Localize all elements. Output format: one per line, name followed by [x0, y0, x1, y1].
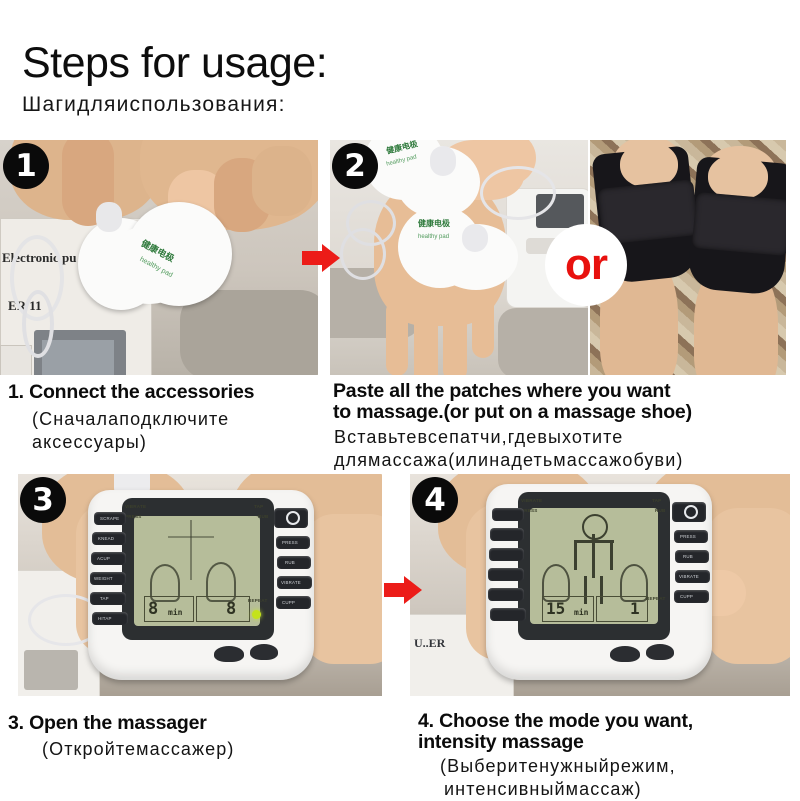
device-button-left-2-p4[interactable] [490, 528, 524, 541]
arrow-right-icon-2 [384, 576, 424, 604]
lcd-timer-value-4: 15 [546, 599, 565, 618]
massager-lcd-3: 8 min 8 [134, 516, 260, 626]
step-4-caption-en-line-2: intensity massage [418, 731, 584, 754]
page-subtitle-russian: Шагидляиспользования: [22, 92, 286, 118]
device-arrow-up-4[interactable] [646, 644, 674, 660]
device-arrow-down-3[interactable] [214, 646, 244, 662]
step-4-photo: U..ER 15 [410, 474, 790, 696]
photo-open-massager: 8 min 8 VIBRATE PRESS TAP RUB REPEAT SCR… [18, 474, 382, 696]
step-3-caption-en: 3. Open the massager [8, 712, 207, 735]
device-button-right-3-p4-label: RUB [683, 554, 693, 559]
lcd-label-repeat-3: REPEAT [248, 598, 268, 603]
step-3-caption-ru-line-1: (Откройтемассажер) [42, 738, 235, 761]
package-label-user: U..ER [414, 636, 445, 651]
lcd-label-tap-4: TAP [652, 498, 661, 503]
lcd-intensity-value-4: 1 [630, 599, 640, 618]
infographic-page: Steps for usage: Шагидляиспользования: E… [0, 0, 800, 800]
or-badge: or [545, 224, 627, 306]
step-1-caption-ru-line-1: (Сначалаподключите [32, 408, 229, 431]
device-button-left-1-p4[interactable] [492, 508, 524, 521]
step-4-caption-ru-line-1: (Выберитенужныйрежим, [440, 755, 676, 778]
power-led-3 [252, 610, 261, 619]
pad-english-text-3: healthy pad [418, 234, 449, 240]
step-badge-2: 2 [332, 143, 378, 189]
photo-choose-mode: U..ER 15 [410, 474, 790, 696]
lcd-timer-unit-3: min [168, 608, 182, 617]
device-button-left-3-p4[interactable] [489, 548, 524, 561]
device-button-right-5-label: CUPP [282, 600, 295, 605]
device-arrow-up-3[interactable] [250, 644, 278, 660]
device-button-right-4-label: VIBRATE [281, 580, 301, 585]
device-button-left-6-p4[interactable] [490, 608, 526, 621]
lcd-timer-unit-4: min [574, 608, 588, 617]
lcd-label-vibrate-3: VIBRATE [125, 504, 146, 509]
step-3-photo: 8 min 8 VIBRATE PRESS TAP RUB REPEAT SCR… [18, 474, 382, 696]
step-2-caption-en-line-2: to massage.(or put on a massage shoe) [333, 401, 692, 424]
step-1-caption-en: 1. Connect the accessories [8, 381, 254, 404]
step-2-caption-ru-line-2: длямассажа(илинадетьмассажобуви) [334, 449, 683, 472]
page-title: Steps for usage: [22, 38, 327, 88]
device-button-left-3-label: ACUP [97, 556, 110, 561]
lcd-label-rub-4: RUB [655, 508, 666, 513]
photo-connect-accessories: Electronic pu ER 11 健康电极 healthy pad [0, 140, 318, 375]
step-badge-4: 4 [412, 477, 458, 523]
lcd-timer-value-3: 8 [148, 599, 158, 619]
device-button-right-3-label: RUB [285, 560, 295, 565]
step-2-caption-en-line-1: Paste all the patches where you want [333, 380, 670, 403]
step-2-caption-ru-line-1: Вставьтевсепатчи,гдевыхотите [334, 426, 623, 449]
step-4-caption-ru-line-2: интенсивныймассаж) [444, 778, 642, 801]
lcd-label-rub-3: RUB [258, 514, 269, 519]
device-button-right-4-p4-label: VIBRATE [679, 574, 699, 579]
step-badge-3: 3 [20, 477, 66, 523]
lcd-intensity-value-3: 8 [226, 599, 236, 619]
massager-lcd-4: 15 min 1 [530, 508, 658, 624]
pad-chinese-text-3: 健康电极 [418, 218, 450, 229]
device-button-left-5-p4[interactable] [488, 588, 524, 601]
device-button-right-5-p4-label: CUPP [680, 594, 693, 599]
device-button-left-2-label: KNEAD [98, 536, 114, 541]
lcd-label-press-3: PRESS [125, 514, 142, 519]
lcd-label-tap-3: TAP [254, 504, 263, 509]
step-1-photo: Electronic pu ER 11 健康电极 healthy pad [0, 140, 318, 375]
device-button-left-5-label: TAP [100, 596, 109, 601]
lcd-label-repeat-4: REPEAT [646, 596, 666, 601]
step-badge-1: 1 [3, 143, 49, 189]
device-button-right-2-p4-label: PRESS [680, 534, 696, 539]
device-button-left-6-label: HITAP [98, 616, 112, 621]
step-1-caption-ru-line-2: аксессуары) [32, 431, 147, 454]
arrow-right-icon-1 [302, 244, 342, 272]
device-button-left-4-label: WEIGHT [94, 576, 113, 581]
step-4-caption-en-line-1: 4. Choose the mode you want, [418, 710, 693, 733]
device-button-left-1-label: SCRAPE [100, 516, 119, 521]
device-button-right-2-label: PRESS [282, 540, 298, 545]
device-button-left-4-p4[interactable] [488, 568, 524, 581]
device-arrow-down-4[interactable] [610, 646, 640, 662]
lcd-label-vibrate-4: VIBRATE [521, 498, 542, 503]
